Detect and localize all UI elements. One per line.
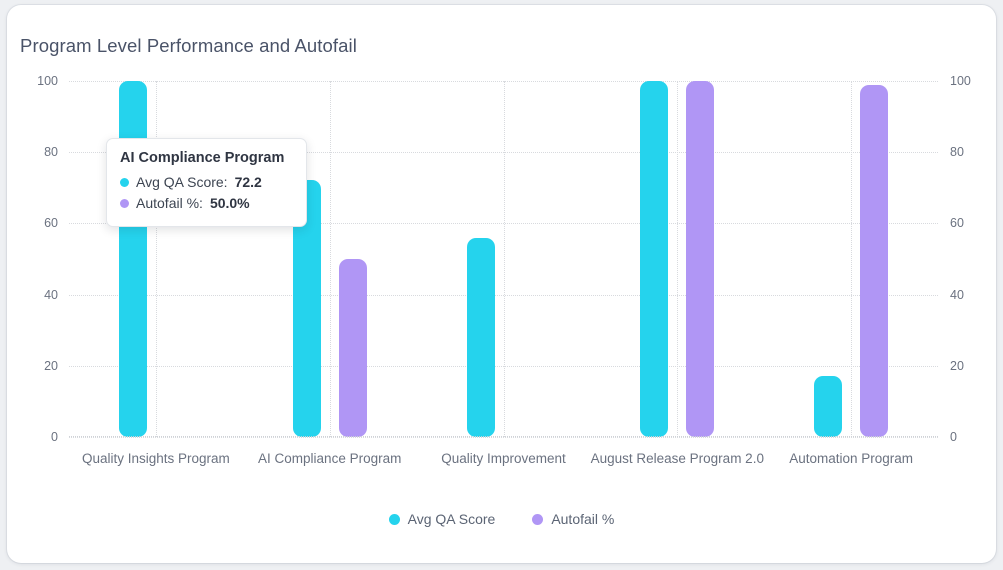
tooltip-row-label: Avg QA Score: — [136, 172, 228, 193]
chart-title: Program Level Performance and Autofail — [20, 35, 357, 57]
legend-item[interactable]: Autofail % — [532, 511, 614, 527]
bar-avg-qa-score[interactable] — [640, 81, 668, 437]
legend-dot-icon — [389, 514, 400, 525]
gridline-vertical — [851, 81, 852, 437]
tooltip-series-dot-icon — [120, 199, 129, 208]
bar-autofail-pct[interactable] — [686, 81, 714, 437]
bar-avg-qa-score[interactable] — [119, 81, 147, 437]
gridline-vertical — [156, 81, 157, 437]
tooltip-title: AI Compliance Program — [120, 150, 291, 166]
y-axis-tick-label-right: 100 — [950, 74, 971, 88]
y-axis-tick-label-left: 0 — [51, 430, 58, 444]
y-axis-tick-label-left: 100 — [37, 74, 58, 88]
gridline-vertical — [330, 81, 331, 437]
gridline-horizontal — [69, 437, 938, 438]
legend-item-label: Autofail % — [551, 511, 614, 527]
tooltip-row: Avg QA Score:72.2 — [120, 172, 291, 193]
tooltip-row-value: 72.2 — [235, 172, 262, 193]
tooltip-rows: Avg QA Score:72.2Autofail %:50.0% — [120, 172, 291, 214]
y-axis-tick-label-left: 20 — [44, 359, 58, 373]
gridline-vertical — [677, 81, 678, 437]
y-axis-tick-label-right: 60 — [950, 216, 964, 230]
y-axis-tick-label-left: 40 — [44, 288, 58, 302]
chart-legend: Avg QA ScoreAutofail % — [7, 511, 996, 527]
bar-avg-qa-score[interactable] — [814, 376, 842, 437]
chart-tooltip: AI Compliance Program Avg QA Score:72.2A… — [106, 138, 307, 227]
legend-dot-icon — [532, 514, 543, 525]
chart-plot-area: 100806040200 100806040200 Quality Insigh… — [69, 81, 938, 437]
bar-autofail-pct[interactable] — [339, 259, 367, 437]
tooltip-row: Autofail %:50.0% — [120, 193, 291, 214]
tooltip-row-label: Autofail %: — [136, 193, 203, 214]
bar-autofail-pct[interactable] — [860, 85, 888, 437]
legend-item[interactable]: Avg QA Score — [389, 511, 496, 527]
tooltip-series-dot-icon — [120, 178, 129, 187]
y-axis-tick-label-left: 80 — [44, 145, 58, 159]
gridline-vertical — [504, 81, 505, 437]
tooltip-row-value: 50.0% — [210, 193, 250, 214]
y-axis-tick-label-right: 80 — [950, 145, 964, 159]
y-axis-tick-label-right: 0 — [950, 430, 957, 444]
legend-item-label: Avg QA Score — [408, 511, 496, 527]
chart-card: Program Level Performance and Autofail 1… — [7, 5, 996, 563]
y-axis-tick-label-left: 60 — [44, 216, 58, 230]
y-axis-tick-label-right: 20 — [950, 359, 964, 373]
y-axis-tick-label-right: 40 — [950, 288, 964, 302]
x-axis-tick-label: Automation Program — [741, 449, 961, 468]
x-axis-baseline — [69, 436, 938, 437]
bar-avg-qa-score[interactable] — [467, 238, 495, 437]
